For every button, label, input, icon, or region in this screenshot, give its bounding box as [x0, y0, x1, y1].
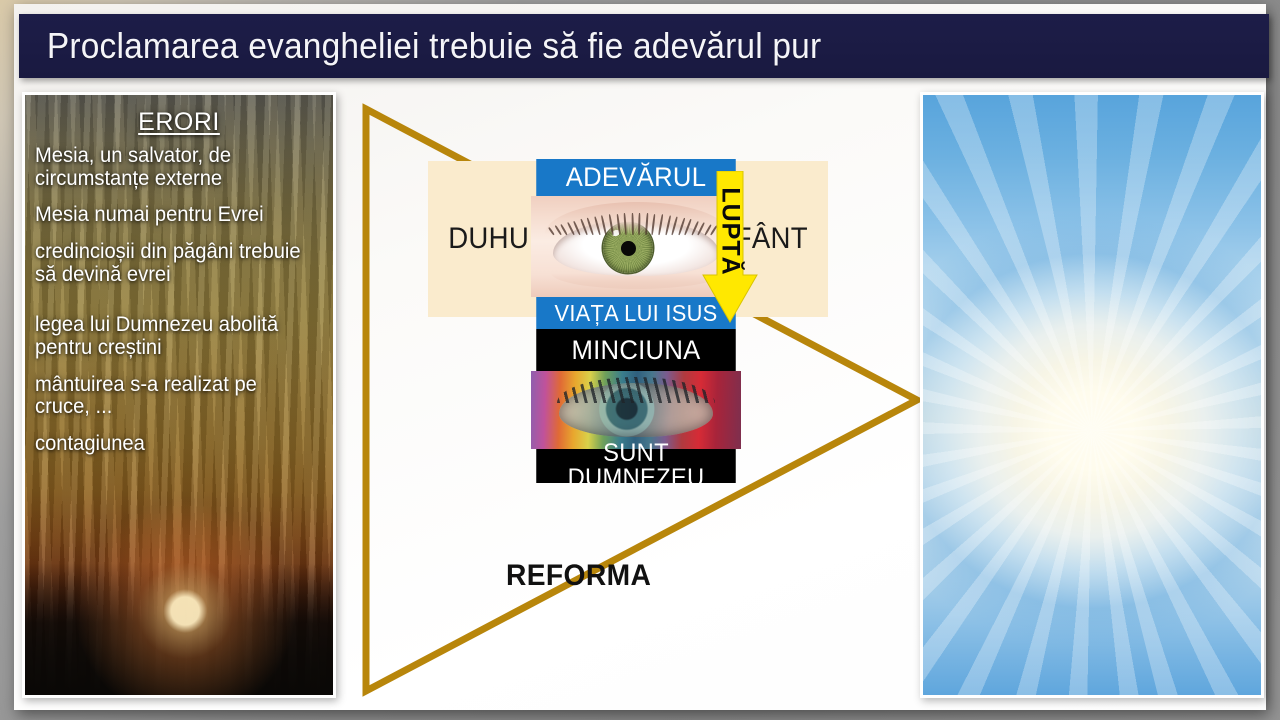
eye-pupil	[621, 241, 636, 256]
painted-eye-lashes	[557, 377, 715, 403]
slide-title-bar: Proclamarea evangheliei trebuie să fie a…	[19, 14, 1269, 78]
slide: Proclamarea evangheliei trebuie să fie a…	[14, 4, 1266, 710]
error-item-2: Mesia numai pentru Evrei	[35, 204, 311, 227]
reforma-caption: REFORMA	[506, 559, 651, 593]
sky-panel	[920, 92, 1264, 698]
errors-heading: ERORI	[35, 109, 323, 136]
eye-lower-lid	[551, 273, 723, 289]
truth-lie-diagram: DUHUL SFÂNT ADEVĂRUL VIAȚA LUI ISUS MINC…	[428, 161, 833, 481]
error-item-6: contagiunea	[35, 433, 311, 456]
error-item-1: Mesia, un salvator, de circumstanțe exte…	[35, 145, 311, 190]
center-diagram-area: DUHUL SFÂNT ADEVĂRUL VIAȚA LUI ISUS MINC…	[344, 90, 924, 702]
bar-sunt-dumnezeu: SUNT DUMNEZEU	[536, 449, 736, 483]
error-item-4: legea lui Dumnezeu abolită pentru crești…	[35, 314, 311, 359]
errors-content: ERORI Mesia, un salvator, de circumstanț…	[25, 95, 333, 695]
lupta-label: LUPTĂ	[716, 187, 745, 275]
bar-minciuna: MINCIUNA	[536, 329, 736, 371]
eyelash	[631, 213, 633, 235]
error-item-5: mântuirea s-a realizat pe cruce, ...	[35, 374, 311, 419]
error-item-3: credincioșii din păgâni trebuie să devin…	[35, 241, 311, 286]
painted-colorful-eye-image	[531, 371, 741, 449]
errors-panel: ERORI Mesia, un salvator, de circumstanț…	[22, 92, 336, 698]
sunburst-sky-image	[923, 95, 1261, 695]
lupta-arrow-container: LUPTĂ	[702, 171, 758, 323]
page-title: Proclamarea evangheliei trebuie să fie a…	[19, 25, 821, 67]
